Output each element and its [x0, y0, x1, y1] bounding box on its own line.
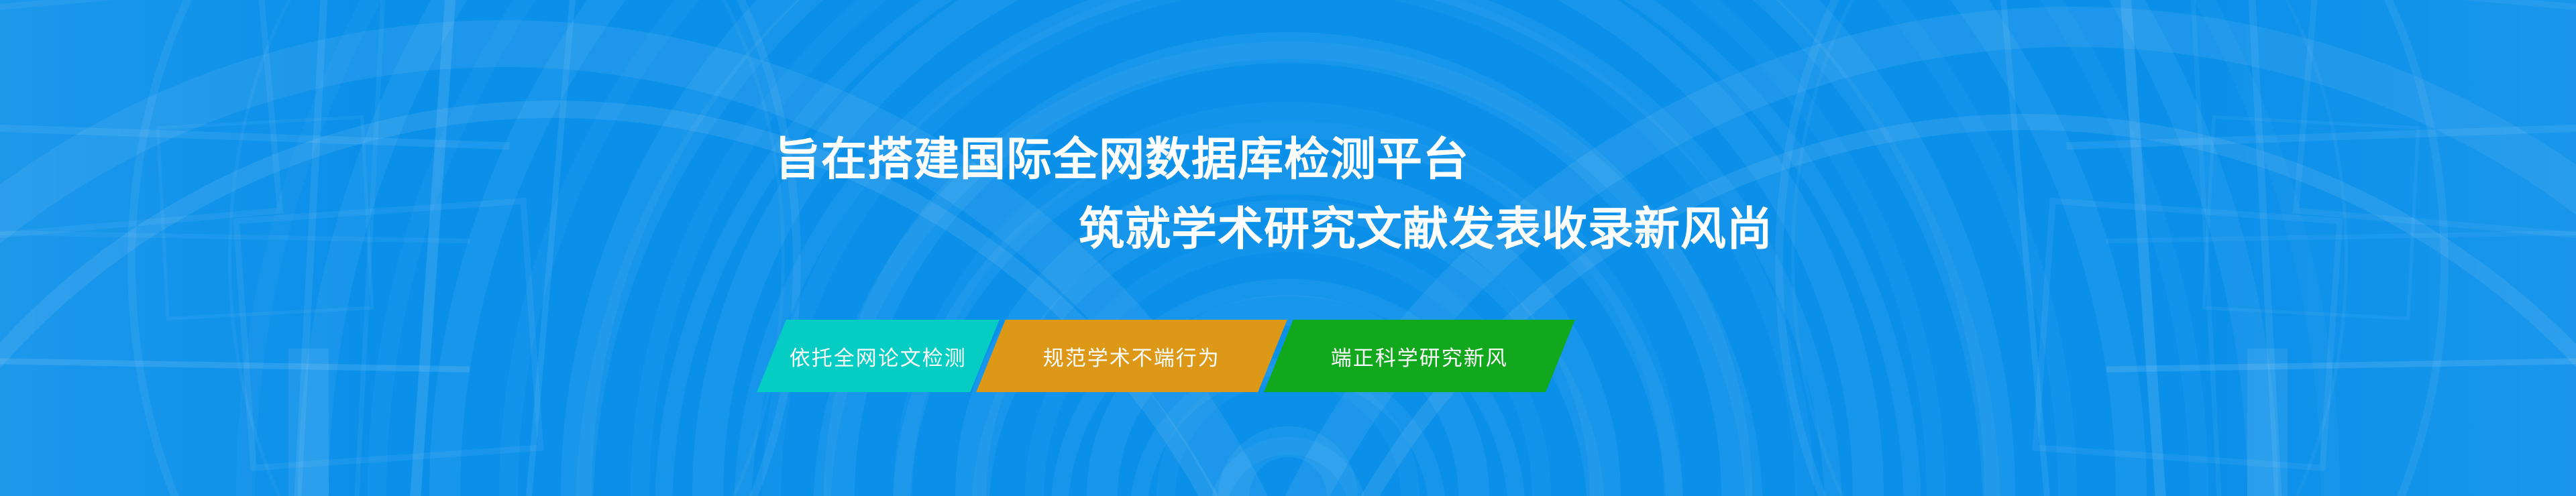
circuit-line [288, 349, 329, 496]
feature-badge-3[interactable]: 端正科学研究新风 [1264, 320, 1575, 392]
feature-badge-2[interactable]: 规范学术不端行为 [976, 320, 1287, 392]
circuit-line [2106, 357, 2576, 372]
feature-badge-2-label: 规范学术不端行为 [1043, 341, 1220, 371]
headline-block: 旨在搭建国际全网数据库检测平台 筑就学术研究文献发表收录新风尚 [0, 125, 2576, 264]
feature-badge-3-label: 端正科学研究新风 [1331, 341, 1508, 371]
circuit-line [0, 357, 470, 372]
circuit-line [2247, 349, 2288, 496]
feature-badge-1[interactable]: 依托全网论文检测 [757, 320, 1000, 392]
hero-banner: 旨在搭建国际全网数据库检测平台 筑就学术研究文献发表收录新风尚 依托全网论文检测… [0, 0, 2576, 496]
feature-badge-1-label: 依托全网论文检测 [790, 341, 967, 371]
feature-badge-strip: 依托全网论文检测 规范学术不端行为 端正科学研究新风 [771, 320, 1560, 392]
headline-line-2: 筑就学术研究文献发表收录新风尚 [1079, 194, 2576, 264]
headline-line-1: 旨在搭建国际全网数据库检测平台 [775, 125, 2576, 194]
